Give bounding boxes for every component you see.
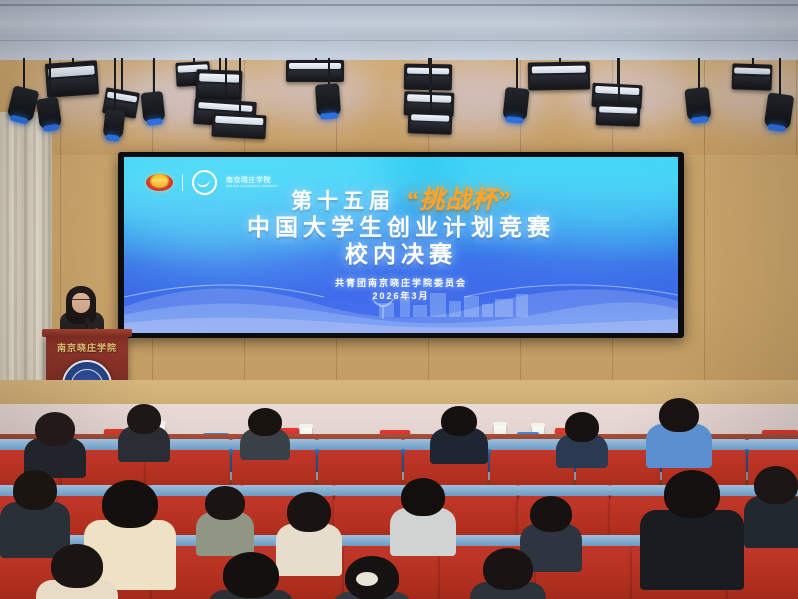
spotlight-fixture (528, 61, 590, 90)
lighting-truss (0, 58, 798, 162)
audience-member-head (248, 408, 282, 436)
spotlight-fixture (408, 111, 453, 135)
screen-title-block: 第十五届 “挑战杯” 中国大学生创业计划竞赛 校内决赛 (124, 188, 678, 268)
audience-member (240, 408, 290, 468)
audience-member (556, 412, 608, 476)
audience-member-head (483, 548, 533, 590)
par-light-fixture (315, 83, 341, 117)
audience-member-head (565, 412, 599, 442)
audience-member (208, 552, 294, 599)
spotlight-fixture (596, 103, 641, 127)
audience-member (470, 548, 546, 599)
title-competition: 中国大学生创业计划竞赛 (124, 214, 678, 241)
par-light-fixture (36, 97, 62, 130)
audience-member (640, 470, 744, 598)
audience-member-head (51, 544, 103, 588)
title-quote-close: ” (497, 187, 511, 214)
spotlight-fixture (195, 69, 242, 101)
spotlight-fixture (732, 63, 773, 90)
glasses-icon (72, 299, 90, 305)
audience-member-head (754, 466, 798, 504)
par-light-fixture (764, 92, 794, 129)
audience-member-head (13, 470, 57, 510)
par-light-fixture (140, 91, 165, 123)
audience-member (646, 398, 712, 476)
spotlight-fixture (211, 113, 266, 140)
spotlight-fixture (45, 60, 99, 98)
university-name-label: 南京晓庄学院 NANJING XIAOZHUANG UNIVERSITY (226, 177, 279, 188)
ceiling (0, 0, 798, 62)
audience-member-head (205, 486, 245, 520)
auditorium-photo: 南京晓庄学院 NANJING XIAOZHUANG UNIVERSITY 第十五… (0, 0, 798, 599)
par-light-fixture (684, 87, 711, 121)
title-cup-name: 挑战杯 (419, 187, 497, 214)
audience-member (744, 466, 798, 556)
audience-member-head (664, 470, 720, 518)
audience-member (390, 478, 456, 564)
audience-member-head (223, 552, 279, 598)
audience-member-head (401, 478, 445, 516)
audience-member-head (127, 404, 161, 434)
audience-member-head (35, 412, 75, 446)
par-light-fixture (7, 85, 40, 122)
spotlight-fixture (286, 60, 344, 82)
audience-member (36, 544, 118, 599)
spotlight-fixture (404, 64, 452, 91)
audience-member-head (287, 492, 331, 532)
podium-label: 南京晓庄学院 (46, 341, 128, 354)
hair-tie (356, 572, 378, 586)
audience-member-head (530, 496, 572, 532)
wave-graphic (124, 263, 678, 333)
audience-member-head (441, 406, 477, 436)
audience-member-head (659, 398, 699, 432)
title-quote-open: “ (406, 187, 420, 214)
led-screen: 南京晓庄学院 NANJING XIAOZHUANG UNIVERSITY 第十五… (124, 157, 678, 333)
audience-member (430, 406, 488, 472)
par-light-fixture (502, 87, 529, 121)
par-light-fixture (103, 109, 126, 139)
audience-member (118, 404, 170, 470)
title-edition: 第十五届 (291, 190, 395, 213)
audience-member-head (102, 480, 158, 528)
